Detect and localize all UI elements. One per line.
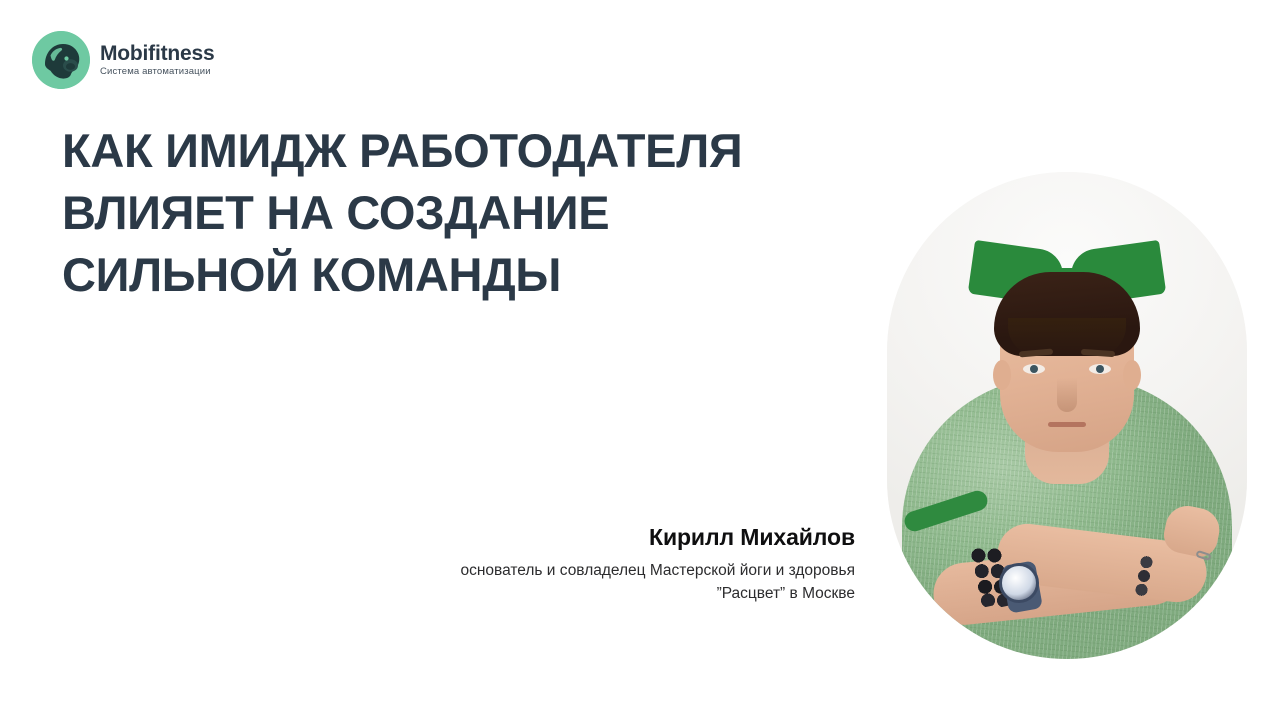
speaker-name: Кирилл Михайлов — [295, 522, 855, 553]
speaker-role-line-1: основатель и совладелец Мастерской йоги … — [295, 559, 855, 582]
slide-title-line-2: ВЛИЯЕТ НА СОЗДАНИЕ — [62, 182, 922, 244]
slide-title-line-1: КАК ИМИДЖ РАБОТОДАТЕЛЯ — [62, 120, 922, 182]
hair — [994, 272, 1140, 356]
brand-logo: Mobifitness Система автоматизации — [32, 31, 214, 89]
slide-title: КАК ИМИДЖ РАБОТОДАТЕЛЯ ВЛИЯЕТ НА СОЗДАНИ… — [62, 120, 922, 306]
nose — [1057, 378, 1077, 412]
speaker-role-line-2: ”Расцвет” в Москве — [295, 582, 855, 605]
speaker-role: основатель и совладелец Мастерской йоги … — [295, 559, 855, 606]
pupil-left — [1030, 365, 1038, 373]
mouth — [1048, 422, 1086, 427]
ear-right — [1123, 360, 1141, 390]
photo-backdrop — [887, 172, 1247, 659]
eye-right — [1089, 364, 1111, 374]
brand-tagline: Система автоматизации — [100, 66, 214, 77]
watch-face — [999, 563, 1039, 603]
speaker-portrait-figure — [887, 172, 1247, 659]
eye-left — [1023, 364, 1045, 374]
presentation-slide: Mobifitness Система автоматизации КАК ИМ… — [0, 0, 1280, 719]
brand-name: Mobifitness — [100, 43, 214, 65]
speaker-caption: Кирилл Михайлов основатель и совладелец … — [295, 522, 855, 606]
gorilla-head-icon — [32, 31, 90, 89]
speaker-photo — [887, 172, 1247, 659]
slide-title-line-3: СИЛЬНОЙ КОМАНДЫ — [62, 244, 922, 306]
pupil-right — [1096, 365, 1104, 373]
ear-left — [993, 360, 1011, 390]
